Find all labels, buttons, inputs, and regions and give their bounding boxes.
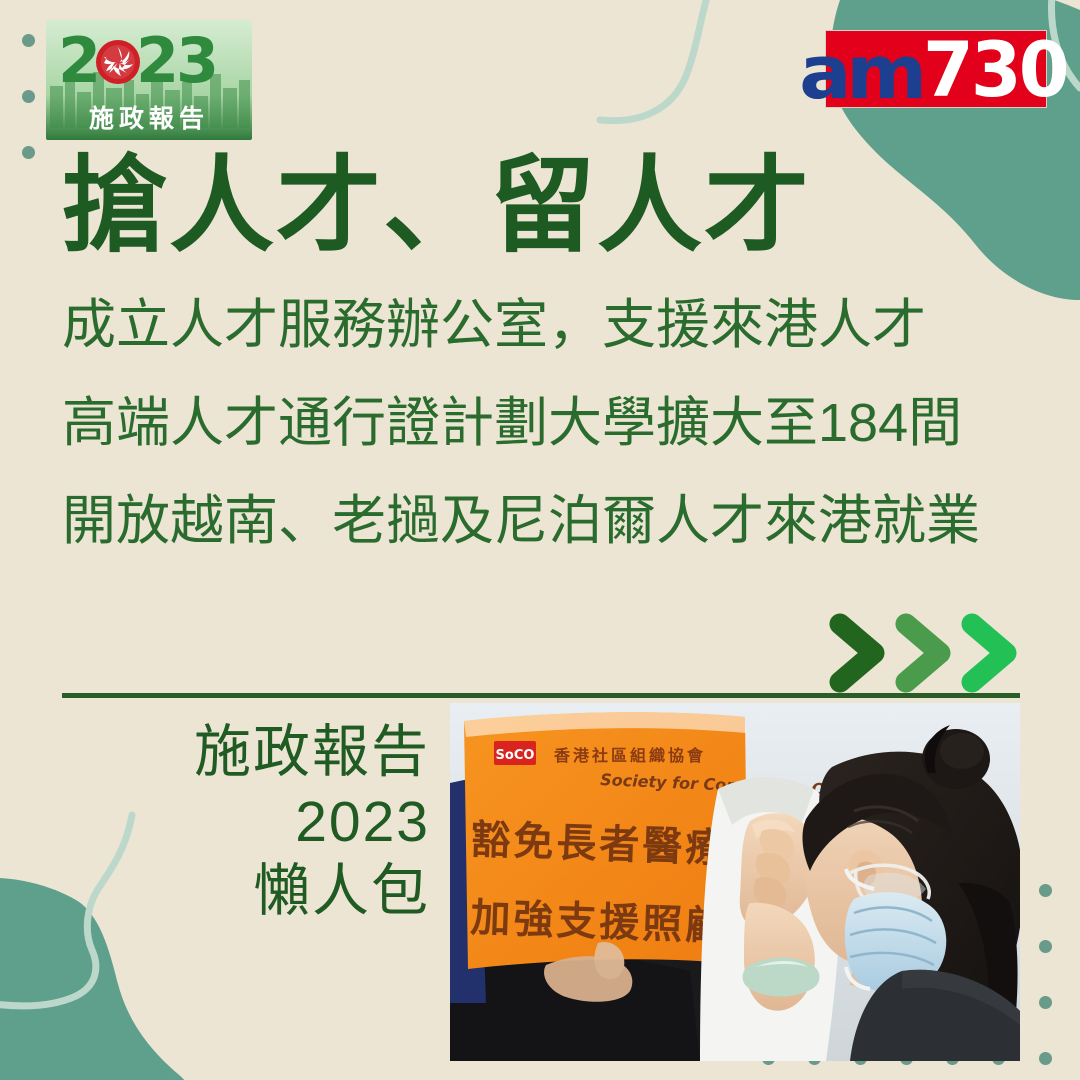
jade-bangle bbox=[743, 958, 820, 997]
decorative-dot bbox=[1039, 940, 1052, 953]
news-photo: SoCO 香港社區組織協會 Society for Community Orga… bbox=[450, 703, 1020, 1061]
series-caption: 施政報告 2023 懶人包 bbox=[120, 718, 430, 927]
hong-kong-bauhinia-emblem bbox=[96, 40, 140, 84]
am730-number: 730 bbox=[923, 40, 1067, 101]
horizontal-divider bbox=[62, 693, 1020, 698]
am730-prefix: am bbox=[799, 44, 922, 103]
am730-logo: am730 bbox=[825, 30, 1047, 108]
chevron-right-icon bbox=[906, 624, 940, 682]
decorative-dot bbox=[22, 90, 35, 103]
svg-text:3: 3 bbox=[176, 24, 219, 97]
teal-curve-bottom-left bbox=[0, 815, 132, 1006]
policy-points-list: 成立人才服務辦公室，支援來港人才 高端人才通行證計劃大學擴大至184間 開放越南… bbox=[62, 298, 1052, 592]
chevron-right-icon bbox=[840, 624, 874, 682]
decorative-dot bbox=[22, 34, 35, 47]
teal-curve-top bbox=[600, 0, 716, 121]
decorative-dot bbox=[1039, 1052, 1052, 1065]
decorative-dot bbox=[22, 146, 35, 159]
page-title: 搶人才、留人才 bbox=[62, 152, 1022, 262]
decorative-dot bbox=[1039, 996, 1052, 1009]
svg-text:SoCO: SoCO bbox=[496, 748, 535, 763]
chevron-right-icon bbox=[972, 624, 1006, 682]
caption-line-2: 2023 bbox=[120, 788, 430, 858]
logo-subtitle-text: 施政報告 bbox=[89, 104, 209, 133]
policy-point: 成立人才服務辦公室，支援來港人才 bbox=[62, 298, 1052, 352]
banner-org-chinese: 香港社區組織協會 bbox=[553, 746, 706, 765]
svg-text:2: 2 bbox=[136, 24, 179, 97]
policy-point: 高端人才通行證計劃大學擴大至184間 bbox=[62, 396, 1052, 450]
caption-line-1: 施政報告 bbox=[120, 718, 430, 788]
policy-address-2023-logo: 2 2 3 施政報告 bbox=[46, 20, 252, 140]
decorative-dot bbox=[1039, 884, 1052, 897]
svg-text:2: 2 bbox=[58, 24, 101, 97]
infographic-canvas: 2 2 3 施政報告 bbox=[0, 0, 1080, 1080]
caption-line-3: 懶人包 bbox=[120, 857, 430, 927]
swipe-chevrons[interactable] bbox=[828, 612, 1028, 694]
policy-point: 開放越南、老撾及尼泊爾人才來港就業 bbox=[62, 494, 1052, 548]
